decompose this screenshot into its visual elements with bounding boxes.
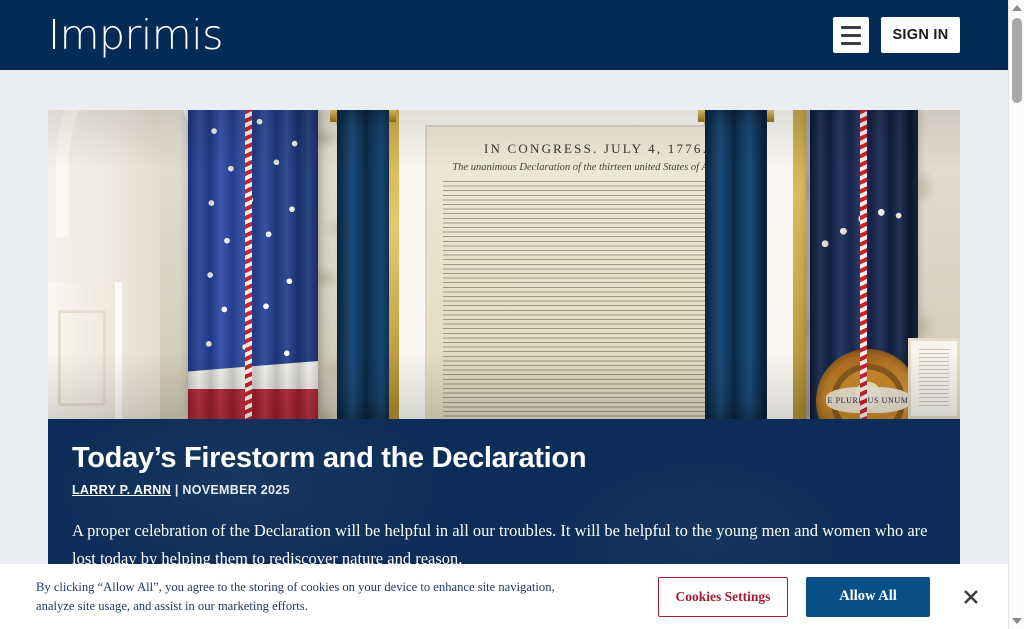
american-flag [188, 110, 318, 419]
oval-office-archway [48, 110, 160, 419]
menu-bar-1 [841, 26, 861, 29]
cookies-settings-button[interactable]: Cookies Settings [658, 577, 788, 617]
hero-image: IN CONGRESS. JULY 4, 1776. The unanimous… [48, 110, 960, 419]
allow-all-button[interactable]: Allow All [806, 577, 930, 617]
browser-viewport: Imprimis SIGN IN [0, 0, 1024, 629]
archway-curve [56, 110, 206, 237]
cookie-consent-actions: Cookies Settings Allow All [658, 577, 984, 617]
side-framed-document [908, 338, 960, 419]
site-header: Imprimis SIGN IN [0, 0, 1008, 70]
page-scroll-area: Imprimis SIGN IN [0, 0, 1008, 629]
side-document-text [919, 349, 949, 408]
close-icon[interactable] [958, 584, 984, 610]
presidential-seal-motto: E PLURIBUS UNUM [826, 387, 910, 413]
site-logo[interactable]: Imprimis [48, 11, 223, 59]
cookie-consent-banner: By clicking “Allow All”, you agree to th… [0, 564, 1008, 629]
sign-in-button[interactable]: SIGN IN [881, 17, 960, 53]
scroll-down-arrow-icon[interactable] [1009, 613, 1024, 629]
article-date: NOVEMBER 2025 [182, 483, 289, 497]
scrollbar-thumb[interactable] [1012, 18, 1022, 103]
article-title: Today’s Firestorm and the Declaration [72, 441, 936, 475]
vertical-scrollbar[interactable] [1008, 0, 1024, 629]
scroll-up-arrow-icon[interactable] [1009, 0, 1024, 16]
menu-bar-3 [841, 42, 861, 45]
declaration-body-text [443, 181, 749, 419]
byline-separator: | [171, 483, 182, 497]
flag-cord-left [245, 110, 252, 419]
declaration-heading: IN CONGRESS. JULY 4, 1776. [443, 141, 749, 157]
velvet-curtain-right [705, 110, 767, 419]
menu-bar-2 [841, 34, 861, 37]
flag-cord-right [860, 110, 867, 419]
featured-article-card[interactable]: IN CONGRESS. JULY 4, 1776. The unanimous… [48, 110, 960, 590]
declaration-subheading: The unanimous Declaration of the thirtee… [443, 162, 749, 173]
velvet-curtain-left [337, 110, 389, 419]
article-byline: LARRY P. ARNN | NOVEMBER 2025 [72, 483, 936, 497]
archway-door-panel [58, 310, 106, 406]
article-author-link[interactable]: LARRY P. ARNN [72, 483, 171, 497]
hamburger-menu-icon[interactable] [833, 17, 869, 53]
cookie-consent-message: By clicking “Allow All”, you agree to th… [36, 578, 596, 616]
american-flag-folds [188, 110, 318, 419]
